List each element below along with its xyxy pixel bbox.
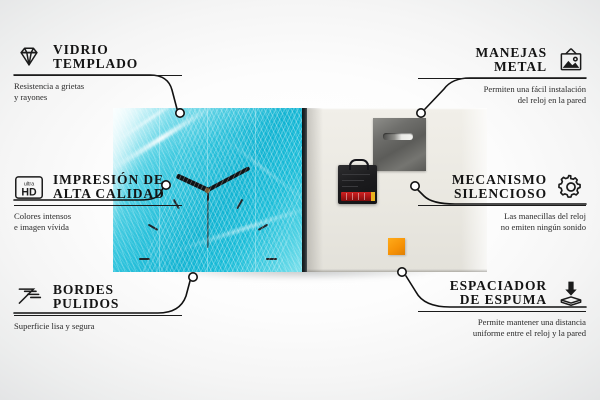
callout-mecanismo-silencioso: MECANISMO SILENCIOSO Las manecillas del … <box>418 172 586 233</box>
diamond-icon <box>14 42 44 72</box>
panel-top-edge <box>307 108 487 110</box>
battery-stripe <box>346 193 347 200</box>
callout-bordes-pulidos: BORDES PULIDOS Superficie lisa y segura <box>14 282 182 332</box>
mechanism-hanging-loop <box>349 159 369 170</box>
callout-espaciador-de-espuma: ESPACIADOR DE ESPUMA Permite mantener un… <box>418 278 586 339</box>
battery-stripe <box>358 193 359 200</box>
callout-description: Resistencia a grietas y rayones <box>14 81 182 103</box>
quartz-mechanism-housing <box>338 165 377 204</box>
callout-title: MECANISMO SILENCIOSO <box>452 173 547 202</box>
battery-terminal <box>371 192 375 201</box>
hour-tick <box>139 258 150 260</box>
hand-center-cap <box>205 188 210 193</box>
mechanism-detail-line <box>342 186 358 187</box>
picture-frame-hanger-icon <box>556 45 586 75</box>
polished-edges-icon <box>14 282 44 312</box>
callout-title: ESPACIADOR DE ESPUMA <box>450 279 547 308</box>
gear-icon <box>556 172 586 202</box>
callout-description: Superficie lisa y segura <box>14 321 182 332</box>
callout-divider <box>418 78 586 79</box>
callout-title: BORDES PULIDOS <box>53 283 119 312</box>
foam-spacer-press-icon <box>556 278 586 308</box>
mechanism-detail-line <box>342 180 364 181</box>
callout-impresion-alta-calidad: ultra HD IMPRESIÓN DE ALTA CALIDAD Color… <box>14 172 182 233</box>
callout-divider <box>418 205 586 206</box>
hour-tick <box>236 199 243 210</box>
glass-shine-streak <box>174 203 302 253</box>
metal-hanger-plate <box>373 118 426 171</box>
second-hand <box>207 190 208 248</box>
glass-seam <box>207 108 208 272</box>
callout-divider <box>14 75 182 76</box>
infographic-canvas: VIDRIO TEMPLADO Resistencia a grietas y … <box>0 0 600 400</box>
callout-title: IMPRESIÓN DE ALTA CALIDAD <box>53 173 165 202</box>
ultra-hd-big-text: HD <box>21 186 37 198</box>
callout-title: VIDRIO TEMPLADO <box>53 43 138 72</box>
minute-hand <box>207 166 250 192</box>
callout-divider <box>14 315 182 316</box>
callout-description: Las manecillas del reloj no emiten ningú… <box>418 211 586 233</box>
hour-tick <box>257 224 268 231</box>
hour-tick <box>266 258 277 260</box>
panel-shading <box>307 108 323 272</box>
callout-description: Permite mantener una distancia uniforme … <box>418 317 586 339</box>
mechanism-detail-line <box>342 174 370 175</box>
hour-tick <box>207 190 209 201</box>
callout-manejas-metal: MANEJAS METAL Permiten una fácil instala… <box>418 45 586 106</box>
callout-title: MANEJAS METAL <box>475 46 547 75</box>
ultra-hd-icon: ultra HD <box>14 172 44 202</box>
glass-shine-streak <box>220 134 302 203</box>
callout-divider <box>14 205 182 206</box>
battery-compartment <box>341 192 374 201</box>
battery-stripe <box>364 193 365 200</box>
callout-description: Colores intensos e imagen vívida <box>14 211 182 233</box>
callout-vidrio-templado: VIDRIO TEMPLADO Resistencia a grietas y … <box>14 42 182 103</box>
callout-description: Permiten una fácil instalación del reloj… <box>418 84 586 106</box>
battery-stripe <box>352 193 353 200</box>
hanger-keyhole-slot <box>383 133 413 140</box>
foam-spacer-pad <box>388 238 405 255</box>
panel-bottom-edge <box>307 269 487 272</box>
callout-divider <box>418 311 586 312</box>
glass-seam <box>255 108 256 272</box>
